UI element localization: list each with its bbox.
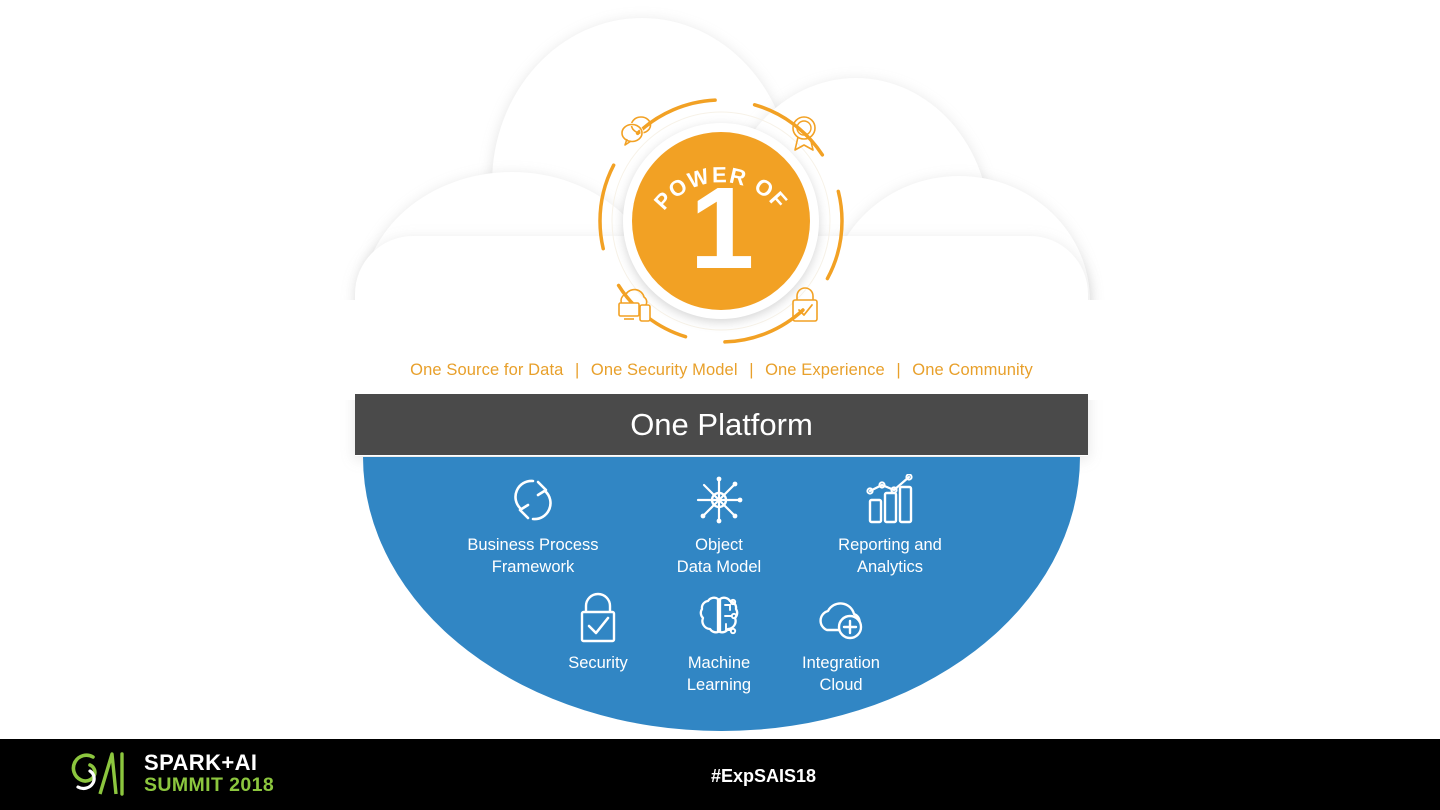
tagline-item-one-source: One Source for Data — [410, 361, 563, 379]
event-hashtag: #ExpSAIS18 — [0, 766, 1440, 787]
bar-chart-trend-icon — [806, 471, 974, 529]
capability-reporting-and-analytics: Reporting and Analytics — [806, 471, 974, 579]
capability-label: Object Data Model — [635, 535, 803, 579]
capability-integration-cloud: Integration Cloud — [757, 589, 925, 697]
cloud-devices-icon — [615, 287, 657, 323]
badge-numeral: 1 — [632, 153, 810, 303]
tagline-separator-3: | — [889, 361, 907, 379]
capabilities-grid: Business Process Framework — [363, 457, 1080, 731]
cloud-plus-icon — [757, 589, 925, 647]
slide-canvas: POWER OF 1 — [0, 0, 1440, 810]
chat-bubbles-icon — [619, 113, 657, 149]
capability-label: Business Process Framework — [449, 535, 617, 579]
capability-business-process-framework: Business Process Framework — [449, 471, 617, 579]
capability-label: Reporting and Analytics — [806, 535, 974, 579]
award-ribbon-icon — [787, 113, 821, 153]
refresh-cycle-icon — [449, 471, 617, 529]
tagline-item-one-experience: One Experience — [765, 361, 885, 379]
tagline-row: One Source for Data | One Security Model… — [355, 361, 1088, 380]
radial-nodes-icon — [635, 471, 803, 529]
capability-label: Integration Cloud — [757, 653, 925, 697]
tagline-separator-2: | — [742, 361, 760, 379]
lock-check-icon — [788, 285, 822, 325]
power-of-one-badge: POWER OF 1 — [595, 95, 847, 347]
one-platform-label: One Platform — [630, 409, 813, 440]
tagline-item-one-security: One Security Model — [591, 361, 738, 379]
capability-object-data-model: Object Data Model — [635, 471, 803, 579]
tagline-separator-1: | — [568, 361, 586, 379]
tagline-item-one-community: One Community — [912, 361, 1033, 379]
one-platform-band: One Platform — [355, 394, 1088, 455]
